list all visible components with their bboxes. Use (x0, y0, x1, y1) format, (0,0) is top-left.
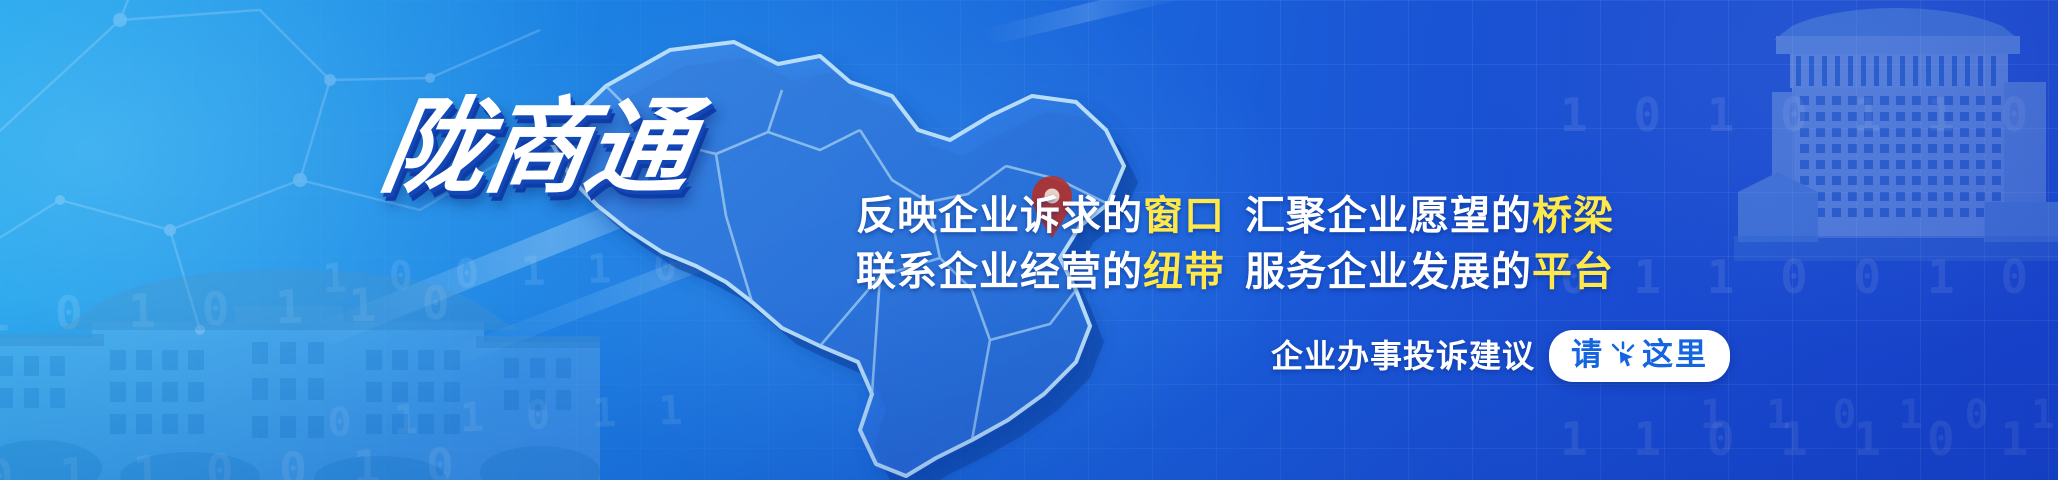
slogan-line-1: 反映企业诉求的窗口汇聚企业愿望的桥梁 (856, 188, 1656, 244)
office-tower-right (1734, 0, 2058, 261)
slogan-line-2-highlight-b: 平台 (1532, 250, 1614, 294)
binary-digits-right-lower: 1 1 0 1 0 1 0 0 0 1 1 0 1 1 1 0 1 0 0 1 … (1700, 300, 2058, 480)
click-here-button[interactable]: 请 这里 (1549, 330, 1730, 382)
slogan-block: 反映企业诉求的窗口汇聚企业愿望的桥梁 联系企业经营的纽带服务企业发展的平台 (856, 188, 1656, 300)
slogan-line-1-highlight-b: 桥梁 (1532, 194, 1614, 238)
cta-button-prefix: 请 (1571, 336, 1604, 374)
promo-banner: 1 0 1 0 1 1 0 0 1 1 0 0 1 0 1 1 0 0 1 0 … (0, 0, 2058, 480)
government-building-left (0, 230, 600, 480)
cta-row: 企业办事投诉建议 请 这里 (1271, 330, 1730, 382)
slogan-line-2: 联系企业经营的纽带服务企业发展的平台 (856, 244, 1656, 300)
banner-title: 陇商通 (375, 96, 697, 200)
cta-label: 企业办事投诉建议 (1271, 333, 1535, 379)
slogan-line-1-text-a: 反映企业诉求的 (856, 194, 1143, 238)
slogan-line-2-highlight-a: 纽带 (1143, 250, 1225, 294)
slogan-line-1-highlight-a: 窗口 (1143, 194, 1225, 238)
slogan-line-2-text-b: 服务企业发展的 (1245, 250, 1532, 294)
click-cursor-icon (1608, 340, 1638, 370)
cta-button-suffix: 这里 (1642, 336, 1708, 374)
slogan-line-2-text-a: 联系企业经营的 (856, 250, 1143, 294)
slogan-line-1-text-b: 汇聚企业愿望的 (1245, 194, 1532, 238)
